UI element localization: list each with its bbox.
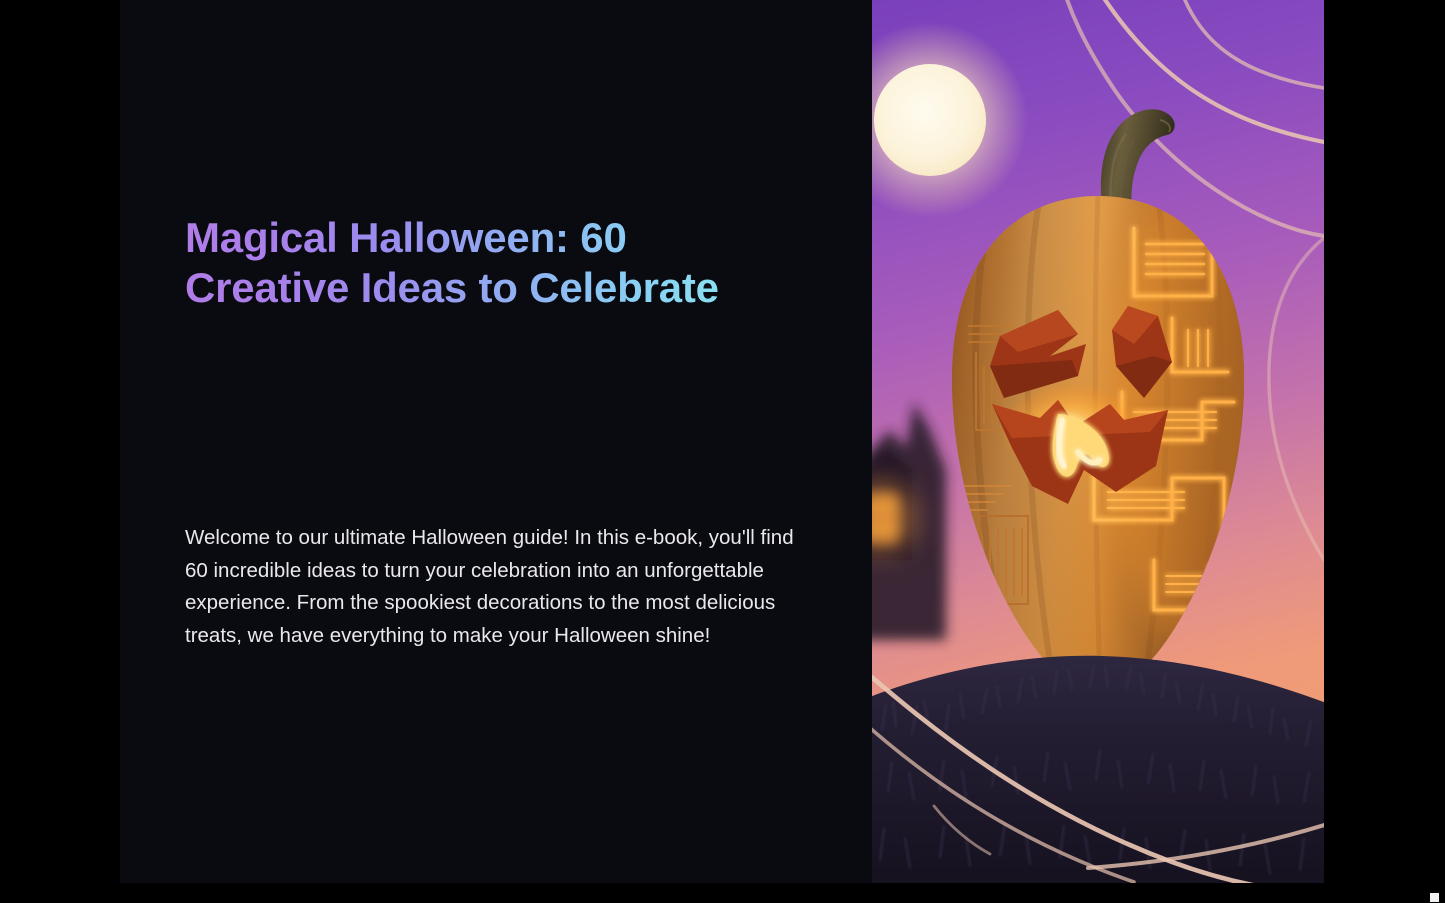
slide-text-column: Magical Halloween: 60 Creative Ideas to …	[120, 0, 872, 883]
title-line-2: Creative Ideas to Celebrate	[185, 263, 785, 313]
title-line-1: Magical Halloween: 60	[185, 213, 785, 263]
screen-canvas: Magical Halloween: 60 Creative Ideas to …	[0, 0, 1445, 903]
page-title: Magical Halloween: 60 Creative Ideas to …	[185, 213, 785, 313]
mouse-cursor	[1430, 893, 1439, 902]
presentation-slide: Magical Halloween: 60 Creative Ideas to …	[120, 0, 1324, 883]
halloween-pumpkin-image	[872, 0, 1324, 883]
grass-field	[872, 656, 1324, 883]
slide-body-text: Welcome to our ultimate Halloween guide!…	[185, 522, 810, 652]
